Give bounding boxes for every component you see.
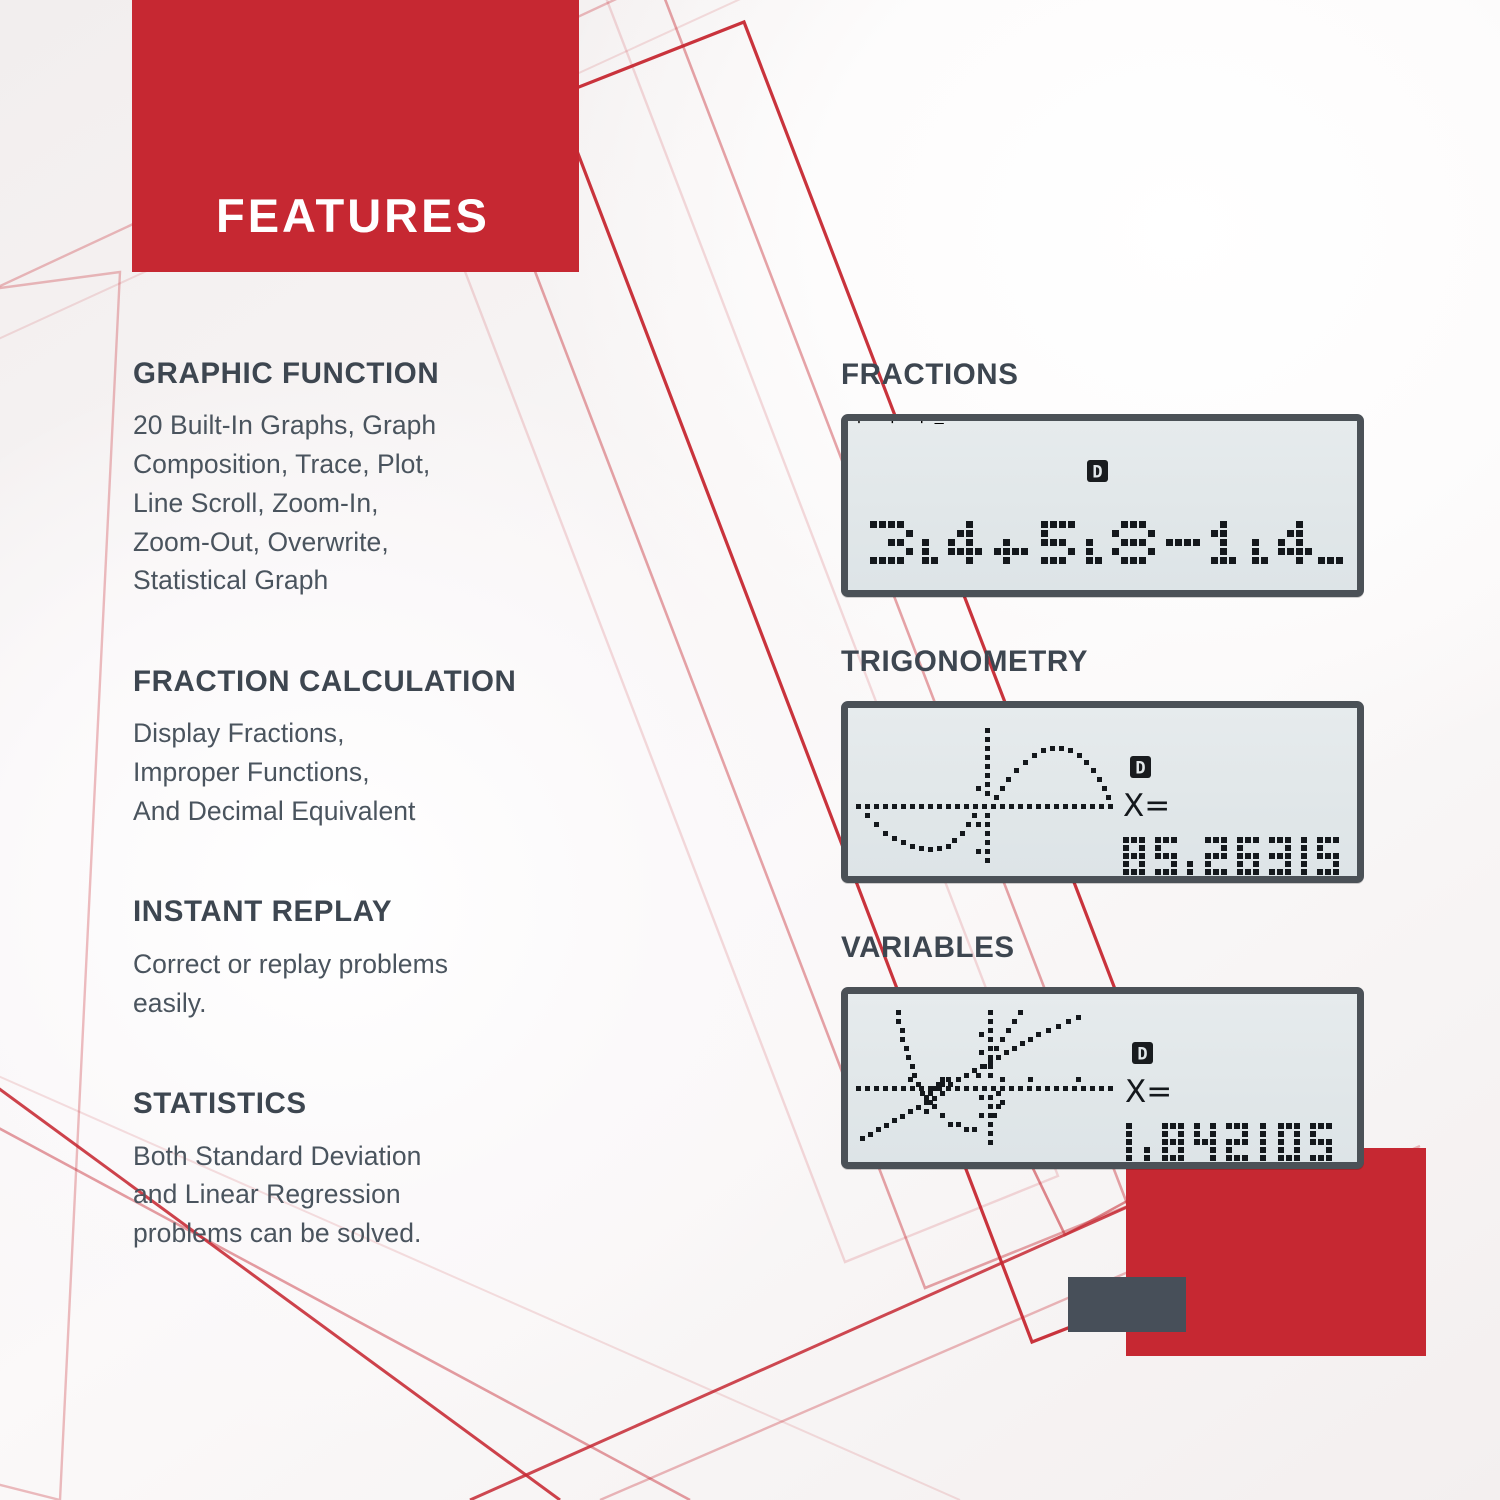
calculator-lcd-screen: D xyxy=(848,421,1357,590)
svg-text:D: D xyxy=(1137,1045,1147,1065)
deg-mode-indicator: D xyxy=(1130,756,1151,779)
screen-examples: FRACTIONS D xyxy=(841,358,1371,1169)
feature-graphic-function: GRAPHIC FUNCTION 20 Built-In Graphs, Gra… xyxy=(133,358,713,600)
lcd-value-text: 85.26315 xyxy=(848,708,915,712)
feature-statistics: STATISTICS Both Standard Deviation and L… xyxy=(133,1068,713,1253)
lcd-variables-render: D X= xyxy=(848,994,1357,1162)
svg-text:D: D xyxy=(1092,463,1102,483)
page-title: FEATURES xyxy=(216,188,490,243)
calculator-lcd-bezel: D X= xyxy=(841,987,1364,1169)
screen-label: FRACTIONS xyxy=(841,358,1371,392)
screen-label: VARIABLES xyxy=(841,931,1371,965)
feature-title: INSTANT REPLAY xyxy=(133,896,713,928)
screen-variables: VARIABLES xyxy=(841,931,1371,1169)
accent-gray-tab xyxy=(1068,1277,1186,1332)
feature-instant-replay: INSTANT REPLAY Correct or replay problem… xyxy=(133,876,713,1022)
lcd-trigonometry-render: D X= xyxy=(848,708,1357,876)
feature-description: Correct or replay problems easily. xyxy=(133,945,713,1022)
infographic-page: FEATURES GRAPHIC FUNCTION 20 Built-In Gr… xyxy=(0,0,1500,1500)
sine-graph-plot xyxy=(856,728,1113,863)
screen-label: TRIGONOMETRY xyxy=(841,645,1371,679)
lcd-prompt: X= xyxy=(1125,1074,1172,1110)
deg-mode-indicator: D xyxy=(1132,1042,1153,1065)
screen-fractions: FRACTIONS D xyxy=(841,358,1371,597)
feature-description: Both Standard Deviation and Linear Regre… xyxy=(133,1137,713,1253)
lcd-value-text: 1.842105 xyxy=(848,994,915,998)
feature-fraction-calculation: FRACTION CALCULATION Display Fractions, … xyxy=(133,646,713,831)
screen-trigonometry: TRIGONOMETRY xyxy=(841,645,1371,883)
svg-text:D: D xyxy=(1135,759,1145,779)
calculator-lcd-screen: D X= xyxy=(848,708,1357,876)
lcd-prompt: X= xyxy=(1123,788,1170,824)
calculator-lcd-bezel: D xyxy=(841,414,1364,597)
feature-title: STATISTICS xyxy=(133,1088,713,1120)
feature-description: 20 Built-In Graphs, Graph Composition, T… xyxy=(133,406,713,599)
feature-title: FRACTION CALCULATION xyxy=(133,666,713,698)
lcd-value-dots xyxy=(1126,1123,1332,1161)
lcd-expression-text: 3⌈4+5⌈8-1⌈4_ xyxy=(848,421,945,425)
deg-mode-indicator: D xyxy=(1087,460,1108,483)
linear-family-graph-plot xyxy=(856,1010,1113,1145)
feature-description: Display Fractions, Improper Functions, A… xyxy=(133,714,713,830)
calculator-lcd-screen: D X= xyxy=(848,994,1357,1162)
features-list: GRAPHIC FUNCTION 20 Built-In Graphs, Gra… xyxy=(133,358,713,1253)
calculator-lcd-bezel: D X= xyxy=(841,701,1364,883)
feature-title: GRAPHIC FUNCTION xyxy=(133,358,713,390)
lcd-fractions-render: D xyxy=(848,421,1357,590)
lcd-value-dots xyxy=(1123,837,1339,875)
